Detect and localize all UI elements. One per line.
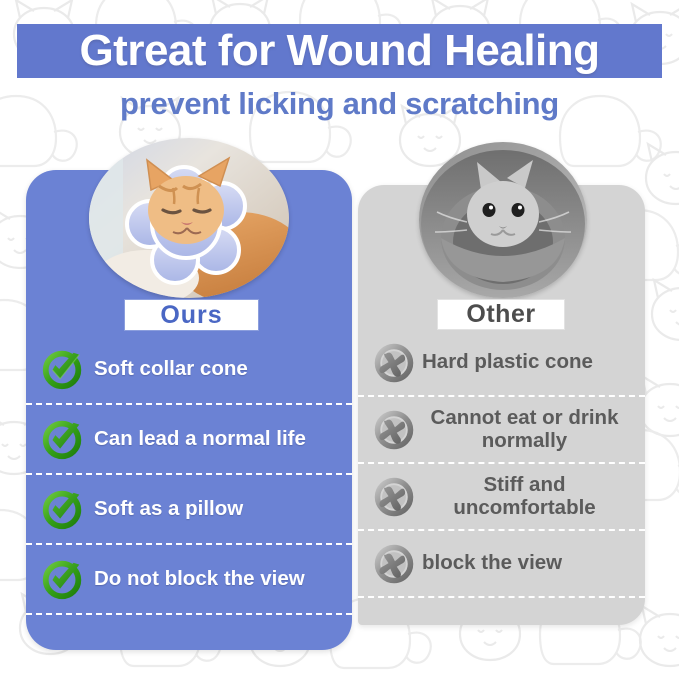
list-item: Stiff and uncomfortable <box>358 464 645 531</box>
photo-other-cat-hard-cone <box>419 142 587 298</box>
check-circle-icon <box>40 416 86 462</box>
rows-ours: Soft collar cone Can lead a normal life … <box>26 335 352 615</box>
label-ours: Ours <box>124 299 259 331</box>
list-item: Soft collar cone <box>26 335 352 405</box>
list-item-label: Cannot eat or drink normally <box>422 407 637 453</box>
x-circle-icon <box>372 341 416 385</box>
list-item-label: Hard plastic cone <box>422 351 593 374</box>
page-title: Gtreat for Wound Healing <box>17 22 662 80</box>
list-item: Hard plastic cone <box>358 330 645 397</box>
list-item-label: block the view <box>422 552 562 575</box>
list-item-label: Stiff and uncomfortable <box>422 474 637 520</box>
infographic-canvas: Gtreat for Wound Healing prevent licking… <box>0 0 679 679</box>
check-circle-icon <box>40 556 86 602</box>
list-item: block the view <box>358 531 645 598</box>
label-other: Other <box>437 299 565 330</box>
page-subtitle: prevent licking and scratching <box>0 86 679 122</box>
photo-ours-cat-soft-collar <box>89 138 289 298</box>
list-item: Cannot eat or drink normally <box>358 397 645 464</box>
list-item-label: Soft as a pillow <box>94 498 243 521</box>
rows-other: Hard plastic cone Cannot eat or drink no… <box>358 330 645 598</box>
x-circle-icon <box>372 475 416 519</box>
check-circle-icon <box>40 346 86 392</box>
x-circle-icon <box>372 408 416 452</box>
list-item: Can lead a normal life <box>26 405 352 475</box>
list-item-label: Do not block the view <box>94 568 305 591</box>
check-circle-icon <box>40 486 86 532</box>
list-item-label: Can lead a normal life <box>94 428 306 451</box>
x-circle-icon <box>372 542 416 586</box>
list-item: Soft as a pillow <box>26 475 352 545</box>
list-item-label: Soft collar cone <box>94 358 248 381</box>
list-item: Do not block the view <box>26 545 352 615</box>
